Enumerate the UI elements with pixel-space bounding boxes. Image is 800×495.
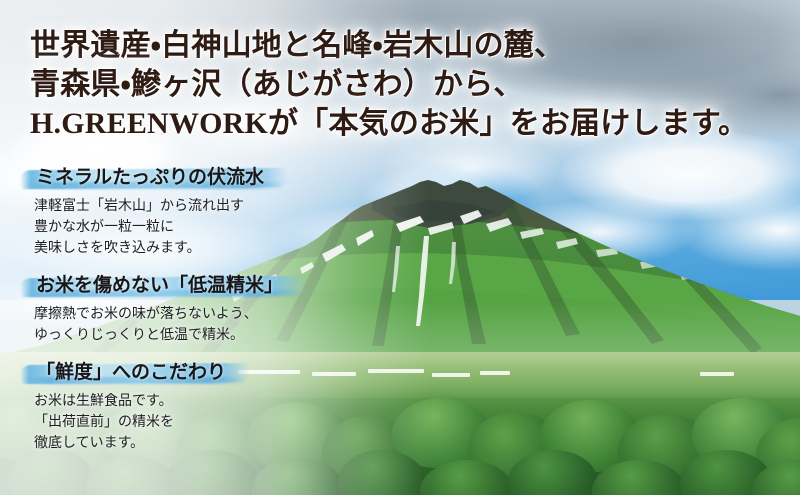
feature-body-line: 津軽富士「岩木山」から流れ出す: [34, 195, 394, 216]
feature-body: 摩擦熱でお米の味が落ちないよう、 ゆっくりじっくりと低温で精米。: [34, 303, 394, 345]
headline-line-3: H.GREENWORKが「本気のお米」をお届けします。: [30, 104, 790, 143]
headline: 世界遺産・白神山地と名峰・岩木山の麓、 青森県・鰺ヶ沢（あじがさわ）から、 H.…: [30, 26, 790, 143]
promo-banner: 世界遺産・白神山地と名峰・岩木山の麓、 青森県・鰺ヶ沢（あじがさわ）から、 H.…: [0, 0, 800, 495]
headline-line-1: 世界遺産・白神山地と名峰・岩木山の麓、: [30, 26, 790, 65]
feature-body-line: 豊かな水が一粒一粒に: [34, 216, 394, 237]
feature-item-low-temp-milling: お米を傷めない「低温精米」 摩擦熱でお米の味が落ちないよう、 ゆっくりじっくりと…: [34, 272, 394, 345]
feature-body: お米は生鮮食品です。 「出荷直前」の精米を 徹底しています。: [34, 390, 394, 453]
feature-body-line: ゆっくりじっくりと低温で精米。: [34, 324, 394, 345]
feature-body-line: お米は生鮮食品です。: [34, 390, 394, 411]
feature-list: ミネラルたっぷりの伏流水 津軽富士「岩木山」から流れ出す 豊かな水が一粒一粒に …: [34, 164, 394, 453]
feature-heading: お米を傷めない「低温精米」: [28, 272, 293, 300]
feature-body-line: 「出荷直前」の精米を: [34, 411, 394, 432]
banner-content: 世界遺産・白神山地と名峰・岩木山の麓、 青森県・鰺ヶ沢（あじがさわ）から、 H.…: [0, 0, 800, 495]
feature-item-freshness: 「鮮度」へのこだわり お米は生鮮食品です。 「出荷直前」の精米を 徹底しています…: [34, 359, 394, 453]
headline-line-2: 青森県・鰺ヶ沢（あじがさわ）から、: [30, 65, 790, 104]
feature-body-line: 徹底しています。: [34, 432, 394, 453]
feature-body-line: 美味しさを吹き込みます。: [34, 237, 394, 258]
feature-heading: 「鮮度」へのこだわり: [28, 359, 236, 387]
feature-body-line: 摩擦熱でお米の味が落ちないよう、: [34, 303, 394, 324]
feature-heading: ミネラルたっぷりの伏流水: [28, 164, 274, 192]
feature-body: 津軽富士「岩木山」から流れ出す 豊かな水が一粒一粒に 美味しさを吹き込みます。: [34, 195, 394, 258]
feature-item-mineral-water: ミネラルたっぷりの伏流水 津軽富士「岩木山」から流れ出す 豊かな水が一粒一粒に …: [34, 164, 394, 258]
